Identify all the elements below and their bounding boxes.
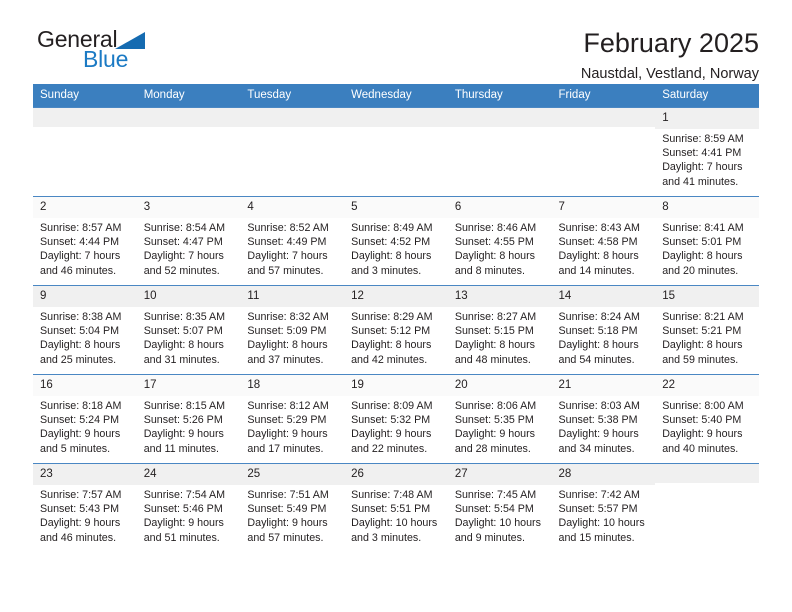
daylight-text: Daylight: 8 hours and 31 minutes. [144,338,235,367]
calendar-cell-empty [137,108,241,197]
sunrise-text: Sunrise: 8:38 AM [40,310,131,324]
sunrise-text: Sunrise: 8:06 AM [455,399,546,413]
daylight-text: Daylight: 8 hours and 54 minutes. [559,338,650,367]
day-details: Sunrise: 8:06 AMSunset: 5:35 PMDaylight:… [448,396,552,456]
day-details: Sunrise: 8:21 AMSunset: 5:21 PMDaylight:… [655,307,759,367]
page-title: February 2025 [581,28,759,59]
calendar-day-cell[interactable]: 28Sunrise: 7:42 AMSunset: 5:57 PMDayligh… [552,464,656,553]
day-details: Sunrise: 8:24 AMSunset: 5:18 PMDaylight:… [552,307,656,367]
sunrise-text: Sunrise: 8:09 AM [351,399,442,413]
day-number: 6 [448,197,552,218]
day-details: Sunrise: 8:54 AMSunset: 4:47 PMDaylight:… [137,218,241,278]
sunset-text: Sunset: 5:09 PM [247,324,338,338]
day-details: Sunrise: 8:18 AMSunset: 5:24 PMDaylight:… [33,396,137,456]
daylight-text: Daylight: 9 hours and 46 minutes. [40,516,131,545]
day-number: 10 [137,286,241,307]
sunrise-text: Sunrise: 8:27 AM [455,310,546,324]
calendar-day-cell[interactable]: 2Sunrise: 8:57 AMSunset: 4:44 PMDaylight… [33,197,137,286]
calendar-day-cell[interactable]: 16Sunrise: 8:18 AMSunset: 5:24 PMDayligh… [33,375,137,464]
calendar-day-cell[interactable]: 20Sunrise: 8:06 AMSunset: 5:35 PMDayligh… [448,375,552,464]
day-number [33,108,137,127]
sunset-text: Sunset: 4:52 PM [351,235,442,249]
day-details: Sunrise: 7:45 AMSunset: 5:54 PMDaylight:… [448,485,552,545]
calendar-page: General Blue February 2025 Naustdal, Ves… [0,0,792,612]
day-details: Sunrise: 7:51 AMSunset: 5:49 PMDaylight:… [240,485,344,545]
day-number [344,108,448,127]
sunset-text: Sunset: 5:32 PM [351,413,442,427]
calendar-week-row: 1Sunrise: 8:59 AMSunset: 4:41 PMDaylight… [33,108,759,197]
logo-word-blue: Blue [83,48,183,71]
day-details: Sunrise: 7:42 AMSunset: 5:57 PMDaylight:… [552,485,656,545]
calendar-day-cell[interactable]: 7Sunrise: 8:43 AMSunset: 4:58 PMDaylight… [552,197,656,286]
day-number: 20 [448,375,552,396]
day-number: 3 [137,197,241,218]
day-details: Sunrise: 8:32 AMSunset: 5:09 PMDaylight:… [240,307,344,367]
sunrise-text: Sunrise: 8:35 AM [144,310,235,324]
day-number: 15 [655,286,759,307]
calendar-cell-empty [344,108,448,197]
calendar-cell-empty [240,108,344,197]
day-details: Sunrise: 7:54 AMSunset: 5:46 PMDaylight:… [137,485,241,545]
daylight-text: Daylight: 10 hours and 3 minutes. [351,516,442,545]
calendar-day-cell[interactable]: 27Sunrise: 7:45 AMSunset: 5:54 PMDayligh… [448,464,552,553]
day-details: Sunrise: 8:35 AMSunset: 5:07 PMDaylight:… [137,307,241,367]
sunrise-text: Sunrise: 8:59 AM [662,132,753,146]
daylight-text: Daylight: 7 hours and 41 minutes. [662,160,753,189]
sunset-text: Sunset: 4:58 PM [559,235,650,249]
sunrise-text: Sunrise: 8:00 AM [662,399,753,413]
calendar-day-cell[interactable]: 8Sunrise: 8:41 AMSunset: 5:01 PMDaylight… [655,197,759,286]
sunrise-text: Sunrise: 7:45 AM [455,488,546,502]
calendar-week-row: 2Sunrise: 8:57 AMSunset: 4:44 PMDaylight… [33,197,759,286]
calendar-day-cell[interactable]: 24Sunrise: 7:54 AMSunset: 5:46 PMDayligh… [137,464,241,553]
day-number: 5 [344,197,448,218]
day-details: Sunrise: 8:15 AMSunset: 5:26 PMDaylight:… [137,396,241,456]
day-details: Sunrise: 8:29 AMSunset: 5:12 PMDaylight:… [344,307,448,367]
sunrise-text: Sunrise: 8:46 AM [455,221,546,235]
day-number: 7 [552,197,656,218]
day-number: 19 [344,375,448,396]
weekday-header-thursday: Thursday [448,84,552,108]
sunrise-text: Sunrise: 7:57 AM [40,488,131,502]
day-details: Sunrise: 8:49 AMSunset: 4:52 PMDaylight:… [344,218,448,278]
generalblue-logo[interactable]: General Blue [33,28,183,71]
sunrise-text: Sunrise: 8:52 AM [247,221,338,235]
daylight-text: Daylight: 9 hours and 28 minutes. [455,427,546,456]
day-number [240,108,344,127]
day-number: 4 [240,197,344,218]
day-details: Sunrise: 7:57 AMSunset: 5:43 PMDaylight:… [33,485,137,545]
sunrise-text: Sunrise: 8:03 AM [559,399,650,413]
sunrise-text: Sunrise: 8:12 AM [247,399,338,413]
calendar-day-cell[interactable]: 22Sunrise: 8:00 AMSunset: 5:40 PMDayligh… [655,375,759,464]
sunrise-text: Sunrise: 7:48 AM [351,488,442,502]
day-details: Sunrise: 8:46 AMSunset: 4:55 PMDaylight:… [448,218,552,278]
weekday-header-saturday: Saturday [655,84,759,108]
sunrise-text: Sunrise: 8:43 AM [559,221,650,235]
calendar-day-cell[interactable]: 1Sunrise: 8:59 AMSunset: 4:41 PMDaylight… [655,108,759,197]
calendar-table: Sunday Monday Tuesday Wednesday Thursday… [33,84,759,553]
calendar-cell-empty [552,108,656,197]
daylight-text: Daylight: 7 hours and 46 minutes. [40,249,131,278]
sunset-text: Sunset: 5:24 PM [40,413,131,427]
calendar-day-cell[interactable]: 11Sunrise: 8:32 AMSunset: 5:09 PMDayligh… [240,286,344,375]
sunset-text: Sunset: 5:57 PM [559,502,650,516]
calendar-day-cell[interactable]: 23Sunrise: 7:57 AMSunset: 5:43 PMDayligh… [33,464,137,553]
daylight-text: Daylight: 8 hours and 3 minutes. [351,249,442,278]
day-number: 17 [137,375,241,396]
calendar-day-cell[interactable]: 18Sunrise: 8:12 AMSunset: 5:29 PMDayligh… [240,375,344,464]
day-details: Sunrise: 8:12 AMSunset: 5:29 PMDaylight:… [240,396,344,456]
sunset-text: Sunset: 5:07 PM [144,324,235,338]
calendar-week-row: 16Sunrise: 8:18 AMSunset: 5:24 PMDayligh… [33,375,759,464]
calendar-day-cell[interactable]: 4Sunrise: 8:52 AMSunset: 4:49 PMDaylight… [240,197,344,286]
day-details: Sunrise: 7:48 AMSunset: 5:51 PMDaylight:… [344,485,448,545]
daylight-text: Daylight: 8 hours and 48 minutes. [455,338,546,367]
sunrise-text: Sunrise: 8:15 AM [144,399,235,413]
day-number: 1 [655,108,759,129]
day-number: 18 [240,375,344,396]
calendar-day-cell[interactable]: 6Sunrise: 8:46 AMSunset: 4:55 PMDaylight… [448,197,552,286]
sunset-text: Sunset: 5:46 PM [144,502,235,516]
day-number: 11 [240,286,344,307]
sunrise-text: Sunrise: 8:41 AM [662,221,753,235]
day-number: 25 [240,464,344,485]
sunset-text: Sunset: 4:44 PM [40,235,131,249]
sunset-text: Sunset: 4:47 PM [144,235,235,249]
day-details: Sunrise: 8:41 AMSunset: 5:01 PMDaylight:… [655,218,759,278]
daylight-text: Daylight: 8 hours and 14 minutes. [559,249,650,278]
weekday-header-wednesday: Wednesday [344,84,448,108]
daylight-text: Daylight: 9 hours and 57 minutes. [247,516,338,545]
daylight-text: Daylight: 9 hours and 34 minutes. [559,427,650,456]
sunrise-text: Sunrise: 8:24 AM [559,310,650,324]
day-number: 9 [33,286,137,307]
sunset-text: Sunset: 4:49 PM [247,235,338,249]
calendar-day-cell[interactable]: 12Sunrise: 8:29 AMSunset: 5:12 PMDayligh… [344,286,448,375]
day-number: 28 [552,464,656,485]
day-number [552,108,656,127]
sunset-text: Sunset: 5:54 PM [455,502,546,516]
sunset-text: Sunset: 4:41 PM [662,146,753,160]
day-details: Sunrise: 8:43 AMSunset: 4:58 PMDaylight:… [552,218,656,278]
day-number: 22 [655,375,759,396]
daylight-text: Daylight: 10 hours and 9 minutes. [455,516,546,545]
calendar-day-cell[interactable]: 9Sunrise: 8:38 AMSunset: 5:04 PMDaylight… [33,286,137,375]
day-details: Sunrise: 8:00 AMSunset: 5:40 PMDaylight:… [655,396,759,456]
calendar-cell-empty [655,464,759,553]
sunset-text: Sunset: 5:18 PM [559,324,650,338]
calendar-day-cell[interactable]: 13Sunrise: 8:27 AMSunset: 5:15 PMDayligh… [448,286,552,375]
page-header: General Blue February 2025 Naustdal, Ves… [33,0,759,78]
calendar-week-row: 9Sunrise: 8:38 AMSunset: 5:04 PMDaylight… [33,286,759,375]
day-number: 21 [552,375,656,396]
daylight-text: Daylight: 8 hours and 8 minutes. [455,249,546,278]
day-number: 8 [655,197,759,218]
daylight-text: Daylight: 8 hours and 20 minutes. [662,249,753,278]
calendar-day-cell[interactable]: 3Sunrise: 8:54 AMSunset: 4:47 PMDaylight… [137,197,241,286]
day-details: Sunrise: 8:27 AMSunset: 5:15 PMDaylight:… [448,307,552,367]
sunset-text: Sunset: 5:49 PM [247,502,338,516]
day-number: 27 [448,464,552,485]
daylight-text: Daylight: 9 hours and 17 minutes. [247,427,338,456]
sunrise-text: Sunrise: 8:18 AM [40,399,131,413]
sunset-text: Sunset: 5:40 PM [662,413,753,427]
sunrise-text: Sunrise: 8:29 AM [351,310,442,324]
weekday-header-tuesday: Tuesday [240,84,344,108]
day-number: 13 [448,286,552,307]
weekday-header-sunday: Sunday [33,84,137,108]
calendar-body: 1Sunrise: 8:59 AMSunset: 4:41 PMDaylight… [33,108,759,553]
sunrise-text: Sunrise: 7:51 AM [247,488,338,502]
calendar-week-row: 23Sunrise: 7:57 AMSunset: 5:43 PMDayligh… [33,464,759,553]
day-number: 14 [552,286,656,307]
day-number [655,464,759,483]
sunrise-text: Sunrise: 8:21 AM [662,310,753,324]
day-number: 16 [33,375,137,396]
day-number: 24 [137,464,241,485]
sunset-text: Sunset: 5:26 PM [144,413,235,427]
day-details: Sunrise: 8:38 AMSunset: 5:04 PMDaylight:… [33,307,137,367]
sunrise-text: Sunrise: 8:57 AM [40,221,131,235]
sunrise-text: Sunrise: 7:42 AM [559,488,650,502]
calendar-day-cell[interactable]: 26Sunrise: 7:48 AMSunset: 5:51 PMDayligh… [344,464,448,553]
day-number: 26 [344,464,448,485]
sunset-text: Sunset: 5:51 PM [351,502,442,516]
sunset-text: Sunset: 5:04 PM [40,324,131,338]
calendar-day-cell[interactable]: 17Sunrise: 8:15 AMSunset: 5:26 PMDayligh… [137,375,241,464]
sunset-text: Sunset: 5:21 PM [662,324,753,338]
calendar-day-cell[interactable]: 19Sunrise: 8:09 AMSunset: 5:32 PMDayligh… [344,375,448,464]
calendar-day-cell[interactable]: 14Sunrise: 8:24 AMSunset: 5:18 PMDayligh… [552,286,656,375]
sunrise-text: Sunrise: 8:49 AM [351,221,442,235]
weekday-header-monday: Monday [137,84,241,108]
sunset-text: Sunset: 5:35 PM [455,413,546,427]
day-details: Sunrise: 8:57 AMSunset: 4:44 PMDaylight:… [33,218,137,278]
calendar-day-cell[interactable]: 10Sunrise: 8:35 AMSunset: 5:07 PMDayligh… [137,286,241,375]
sunrise-text: Sunrise: 8:32 AM [247,310,338,324]
day-details: Sunrise: 8:52 AMSunset: 4:49 PMDaylight:… [240,218,344,278]
calendar-cell-empty [33,108,137,197]
calendar-day-cell[interactable]: 25Sunrise: 7:51 AMSunset: 5:49 PMDayligh… [240,464,344,553]
sunset-text: Sunset: 5:12 PM [351,324,442,338]
title-block: February 2025 Naustdal, Vestland, Norway [581,28,759,82]
calendar-day-cell[interactable]: 5Sunrise: 8:49 AMSunset: 4:52 PMDaylight… [344,197,448,286]
day-number: 12 [344,286,448,307]
daylight-text: Daylight: 9 hours and 11 minutes. [144,427,235,456]
location-subtitle: Naustdal, Vestland, Norway [581,66,759,82]
weekday-header-row: Sunday Monday Tuesday Wednesday Thursday… [33,84,759,108]
sunset-text: Sunset: 5:29 PM [247,413,338,427]
daylight-text: Daylight: 7 hours and 57 minutes. [247,249,338,278]
daylight-text: Daylight: 8 hours and 59 minutes. [662,338,753,367]
sunrise-text: Sunrise: 7:54 AM [144,488,235,502]
day-details: Sunrise: 8:59 AMSunset: 4:41 PMDaylight:… [655,129,759,189]
daylight-text: Daylight: 8 hours and 42 minutes. [351,338,442,367]
day-details: Sunrise: 8:09 AMSunset: 5:32 PMDaylight:… [344,396,448,456]
daylight-text: Daylight: 9 hours and 51 minutes. [144,516,235,545]
day-details: Sunrise: 8:03 AMSunset: 5:38 PMDaylight:… [552,396,656,456]
calendar-cell-empty [448,108,552,197]
calendar-day-cell[interactable]: 21Sunrise: 8:03 AMSunset: 5:38 PMDayligh… [552,375,656,464]
sunset-text: Sunset: 5:43 PM [40,502,131,516]
daylight-text: Daylight: 9 hours and 22 minutes. [351,427,442,456]
calendar-day-cell[interactable]: 15Sunrise: 8:21 AMSunset: 5:21 PMDayligh… [655,286,759,375]
day-number [448,108,552,127]
day-number: 23 [33,464,137,485]
daylight-text: Daylight: 7 hours and 52 minutes. [144,249,235,278]
daylight-text: Daylight: 8 hours and 25 minutes. [40,338,131,367]
sunset-text: Sunset: 5:01 PM [662,235,753,249]
day-number [137,108,241,127]
daylight-text: Daylight: 9 hours and 5 minutes. [40,427,131,456]
daylight-text: Daylight: 9 hours and 40 minutes. [662,427,753,456]
sunset-text: Sunset: 5:38 PM [559,413,650,427]
sunrise-text: Sunrise: 8:54 AM [144,221,235,235]
day-number: 2 [33,197,137,218]
sunset-text: Sunset: 4:55 PM [455,235,546,249]
daylight-text: Daylight: 8 hours and 37 minutes. [247,338,338,367]
sunset-text: Sunset: 5:15 PM [455,324,546,338]
daylight-text: Daylight: 10 hours and 15 minutes. [559,516,650,545]
weekday-header-friday: Friday [552,84,656,108]
